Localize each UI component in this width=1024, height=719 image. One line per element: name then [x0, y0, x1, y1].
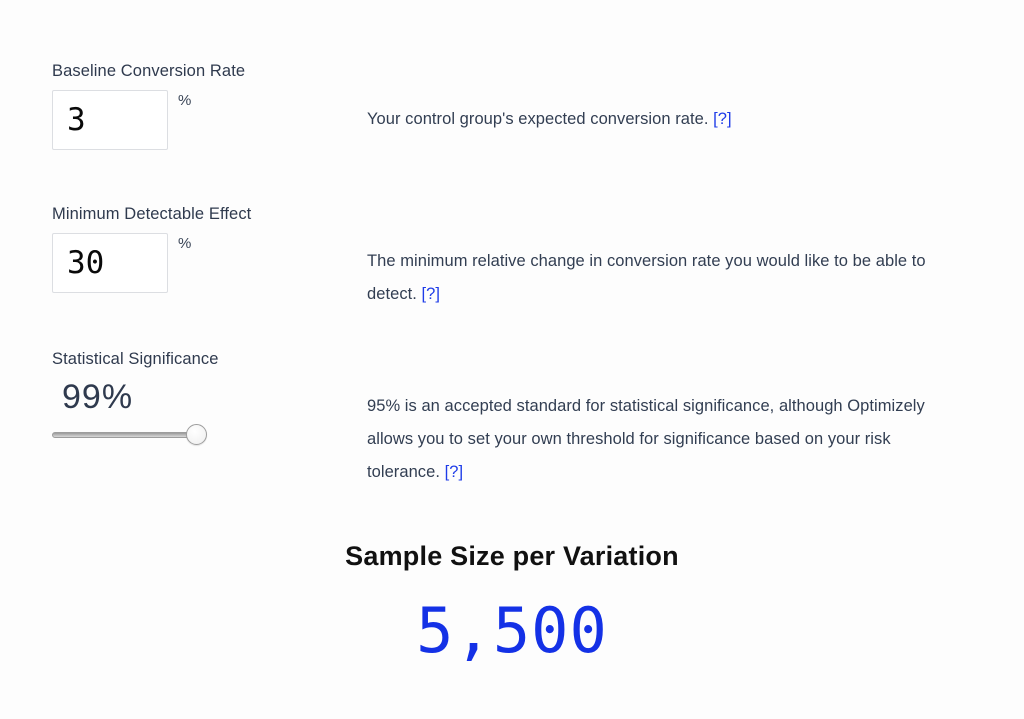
baseline-conversion-rate-label: Baseline Conversion Rate — [52, 62, 992, 80]
slider-track[interactable] — [52, 432, 200, 438]
slider-thumb[interactable] — [186, 424, 207, 445]
baseline-conversion-rate-input[interactable] — [52, 90, 168, 150]
mde-percent-sign: % — [178, 235, 191, 252]
baseline-input-wrap: % — [52, 90, 168, 150]
baseline-percent-sign: % — [178, 92, 191, 109]
mde-description: The minimum relative change in conversio… — [367, 245, 957, 311]
mde-help-icon[interactable]: [?] — [422, 285, 441, 303]
minimum-detectable-effect-label: Minimum Detectable Effect — [52, 205, 992, 223]
result-title: Sample Size per Variation — [0, 540, 1024, 572]
baseline-help-icon[interactable]: [?] — [713, 110, 732, 128]
result-section: Sample Size per Variation 5,500 — [0, 540, 1024, 663]
mde-description-text: The minimum relative change in conversio… — [367, 252, 926, 303]
baseline-description-text: Your control group's expected conversion… — [367, 110, 708, 128]
significance-help-icon[interactable]: [?] — [445, 463, 464, 481]
minimum-detectable-effect-input[interactable] — [52, 233, 168, 293]
baseline-description: Your control group's expected conversion… — [367, 103, 927, 136]
sample-size-calculator: Baseline Conversion Rate % Your control … — [0, 0, 1024, 719]
sample-size-value: 5,500 — [0, 598, 1024, 663]
statistical-significance-label: Statistical Significance — [52, 350, 992, 368]
significance-description: 95% is an accepted standard for statisti… — [367, 390, 967, 489]
statistical-significance-slider[interactable] — [52, 423, 212, 447]
mde-input-wrap: % — [52, 233, 168, 293]
